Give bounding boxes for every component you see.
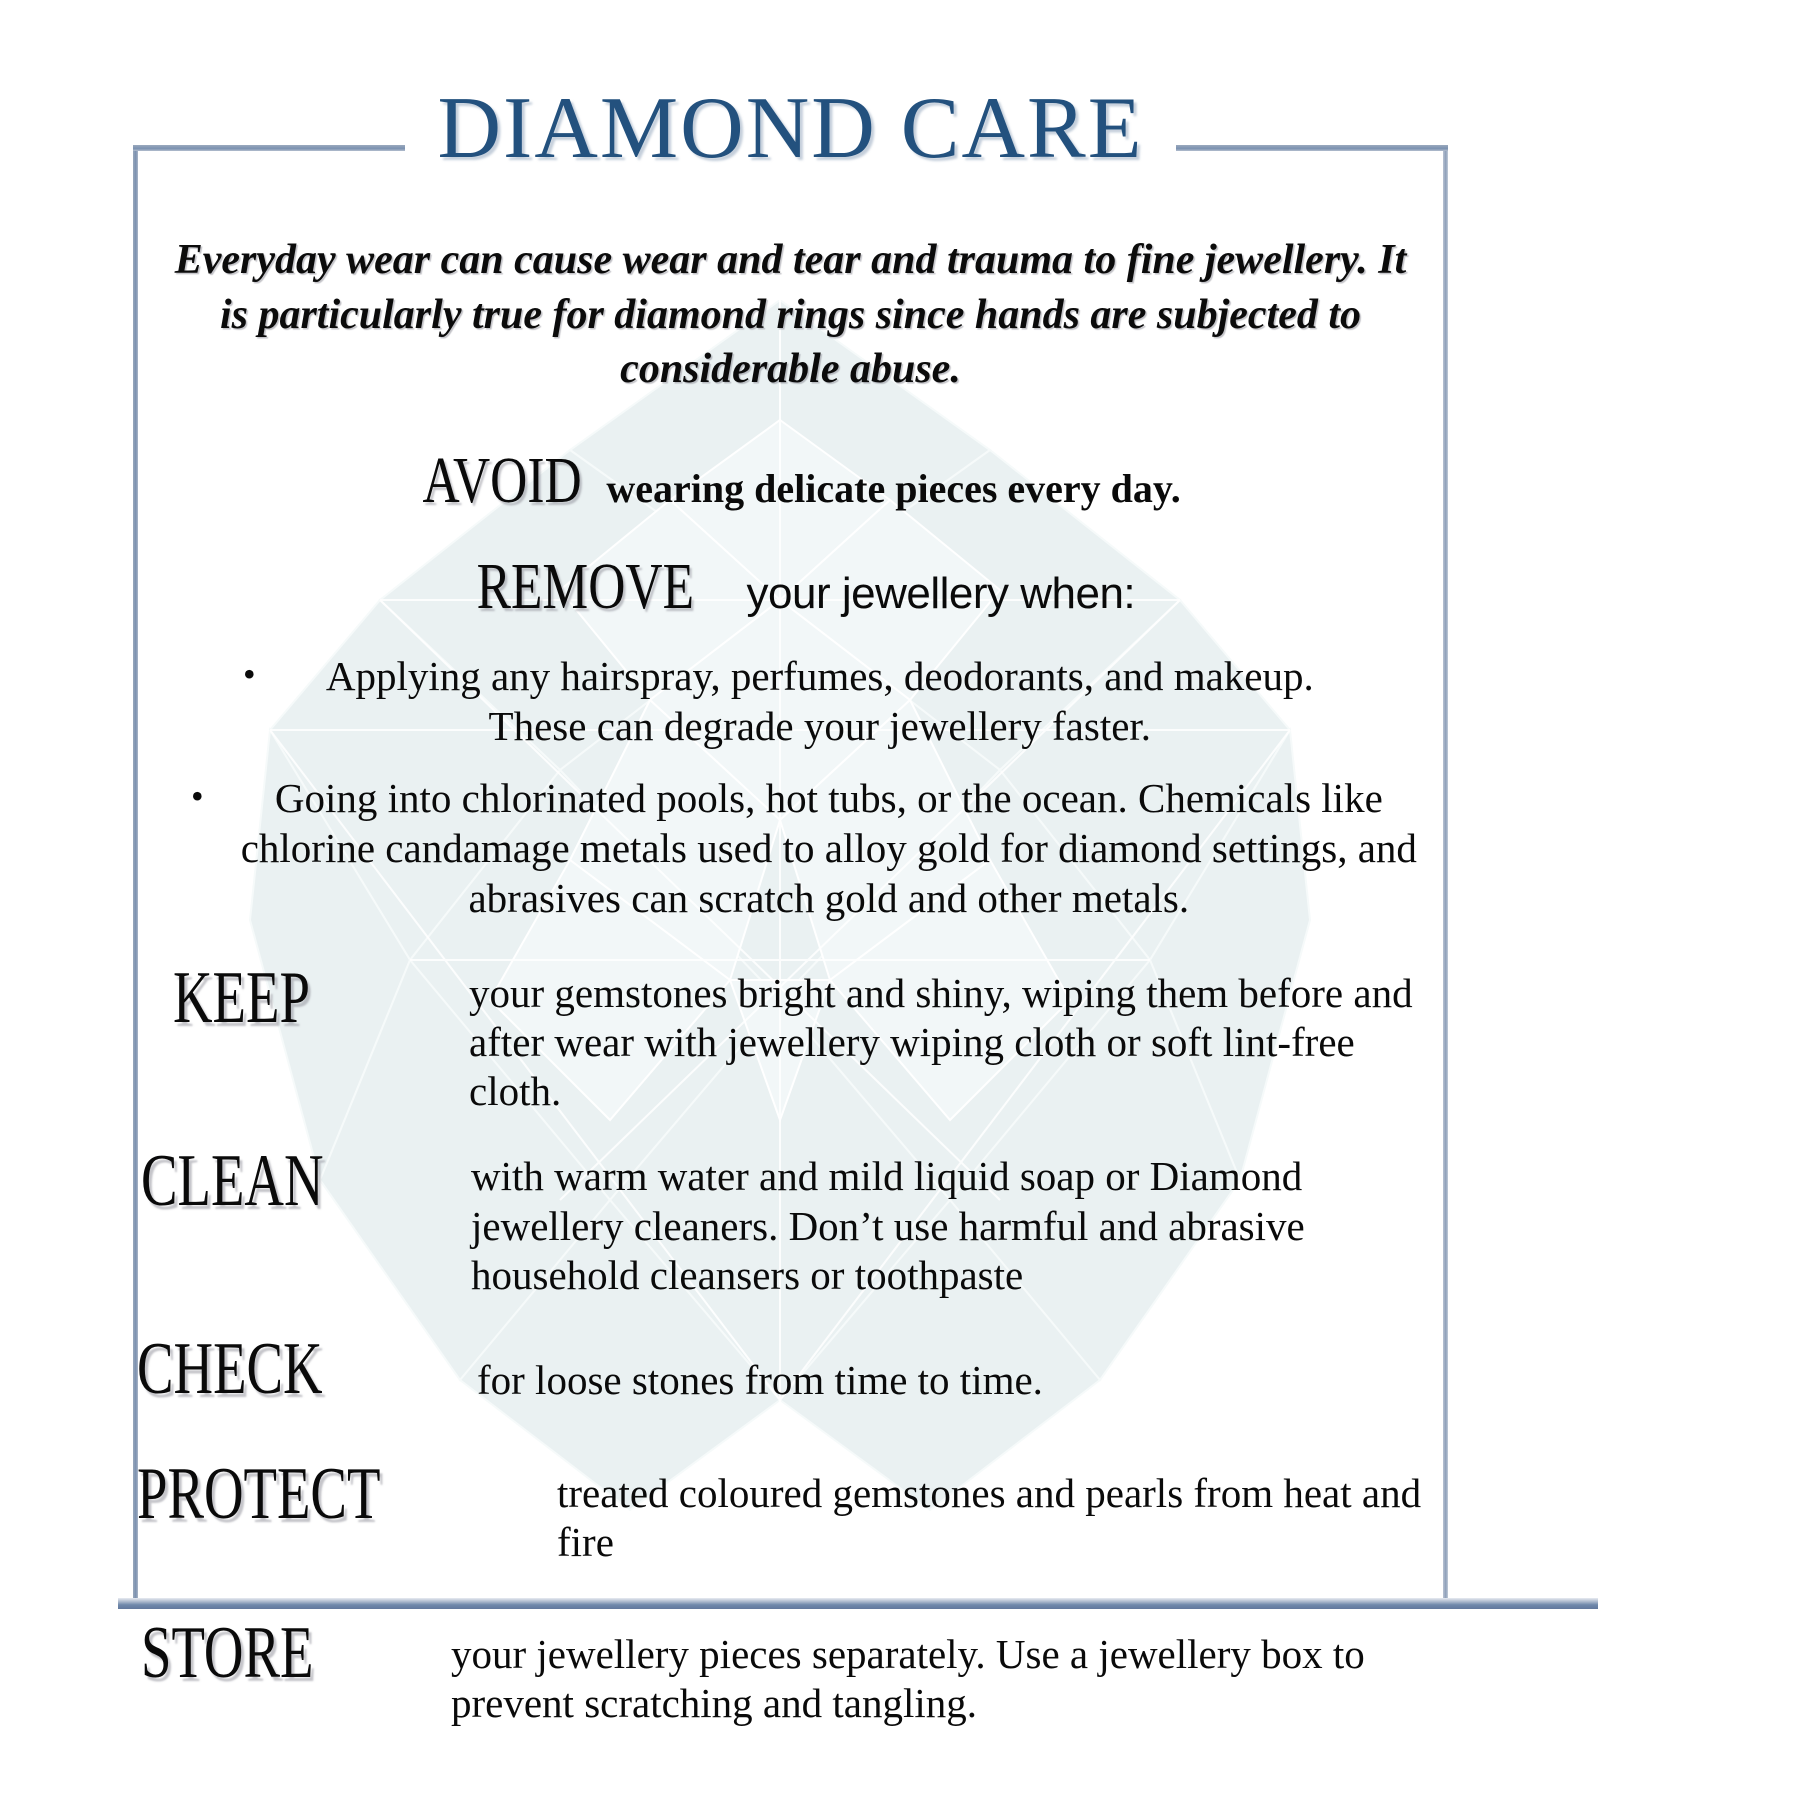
section-keyword: STORE (141, 1618, 370, 1689)
list-item: • Going into chlorinated pools, hot tubs… (133, 773, 1448, 923)
diamond-care-poster: DIAMOND CARE Everyday wear can cause wea… (0, 0, 1800, 1800)
title-container: DIAMOND CARE (133, 85, 1448, 173)
avoid-keyword: AVOID (423, 443, 582, 519)
section-keyword: KEEP (173, 963, 388, 1034)
bullet-marker-icon: • (243, 651, 256, 697)
poster-content: DIAMOND CARE Everyday wear can cause wea… (133, 145, 1448, 1728)
section-body: with warm water and mild liquid soap or … (471, 1146, 1448, 1300)
list-item-text: Applying any hairspray, perfumes, deodor… (302, 651, 1448, 751)
page-title: DIAMOND CARE (424, 85, 1158, 173)
avoid-section: AVOIDwearing delicate pieces every day. (133, 443, 1448, 519)
section-keyword: CLEAN (141, 1146, 385, 1217)
section-body: your gemstones bright and shiny, wiping … (463, 963, 1448, 1117)
section-check: CHECK for loose stones from time to time… (133, 1334, 1448, 1405)
avoid-body: wearing delicate pieces every day. (606, 466, 1180, 511)
remove-keyword: REMOVE (476, 549, 693, 625)
section-keyword: CHECK (137, 1334, 389, 1405)
section-protect: PROTECT treated coloured gemstones and p… (133, 1459, 1448, 1567)
list-item: • Applying any hairspray, perfumes, deod… (133, 651, 1448, 751)
section-store: STORE your jewellery pieces separately. … (133, 1618, 1448, 1728)
list-item-text: Going into chlorinated pools, hot tubs, … (228, 773, 1448, 923)
section-body: for loose stones from time to time. (477, 1334, 1448, 1405)
remove-section: REMOVEyour jewellery when: (133, 549, 1448, 625)
section-body: your jewellery pieces separately. Use a … (451, 1618, 1448, 1728)
remove-bullet-list: • Applying any hairspray, perfumes, deod… (133, 651, 1448, 923)
bullet-marker-icon: • (191, 773, 204, 819)
section-keyword: PROTECT (137, 1459, 448, 1530)
remove-body: your jewellery when: (747, 569, 1136, 618)
section-clean: CLEAN with warm water and mild liquid so… (133, 1146, 1448, 1300)
intro-paragraph: Everyday wear can cause wear and tear an… (157, 233, 1424, 397)
section-body: treated coloured gemstones and pearls fr… (557, 1459, 1448, 1567)
section-keep: KEEP your gemstones bright and shiny, wi… (133, 963, 1448, 1117)
